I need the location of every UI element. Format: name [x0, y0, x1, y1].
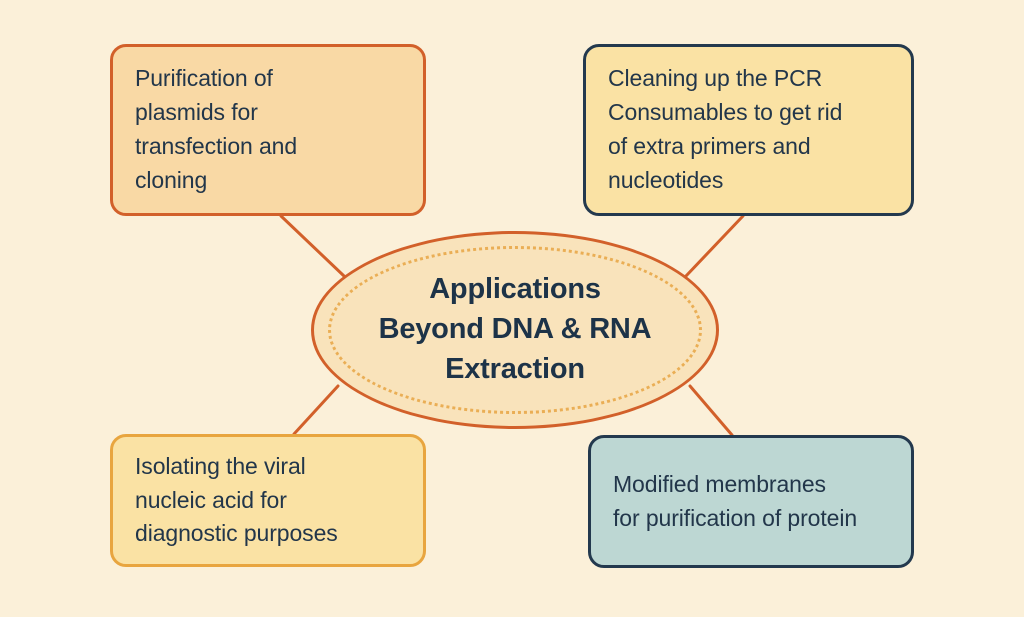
center-ellipse[interactable]: Applications Beyond DNA & RNA Extraction [311, 231, 719, 429]
center-title: Applications Beyond DNA & RNA Extraction [314, 234, 716, 426]
node-top-right[interactable]: Cleaning up the PCR Consumables to get r… [583, 44, 914, 216]
node-bottom-left[interactable]: Isolating the viral nucleic acid for dia… [110, 434, 426, 567]
diagram-canvas: Purification of plasmids for transfectio… [0, 0, 1024, 617]
node-bottom-right-label: Modified membranes for purification of p… [613, 468, 857, 536]
node-top-left[interactable]: Purification of plasmids for transfectio… [110, 44, 426, 216]
node-bottom-right[interactable]: Modified membranes for purification of p… [588, 435, 914, 568]
node-top-right-label: Cleaning up the PCR Consumables to get r… [608, 62, 842, 197]
node-top-left-label: Purification of plasmids for transfectio… [135, 62, 297, 197]
node-bottom-left-label: Isolating the viral nucleic acid for dia… [135, 450, 338, 551]
